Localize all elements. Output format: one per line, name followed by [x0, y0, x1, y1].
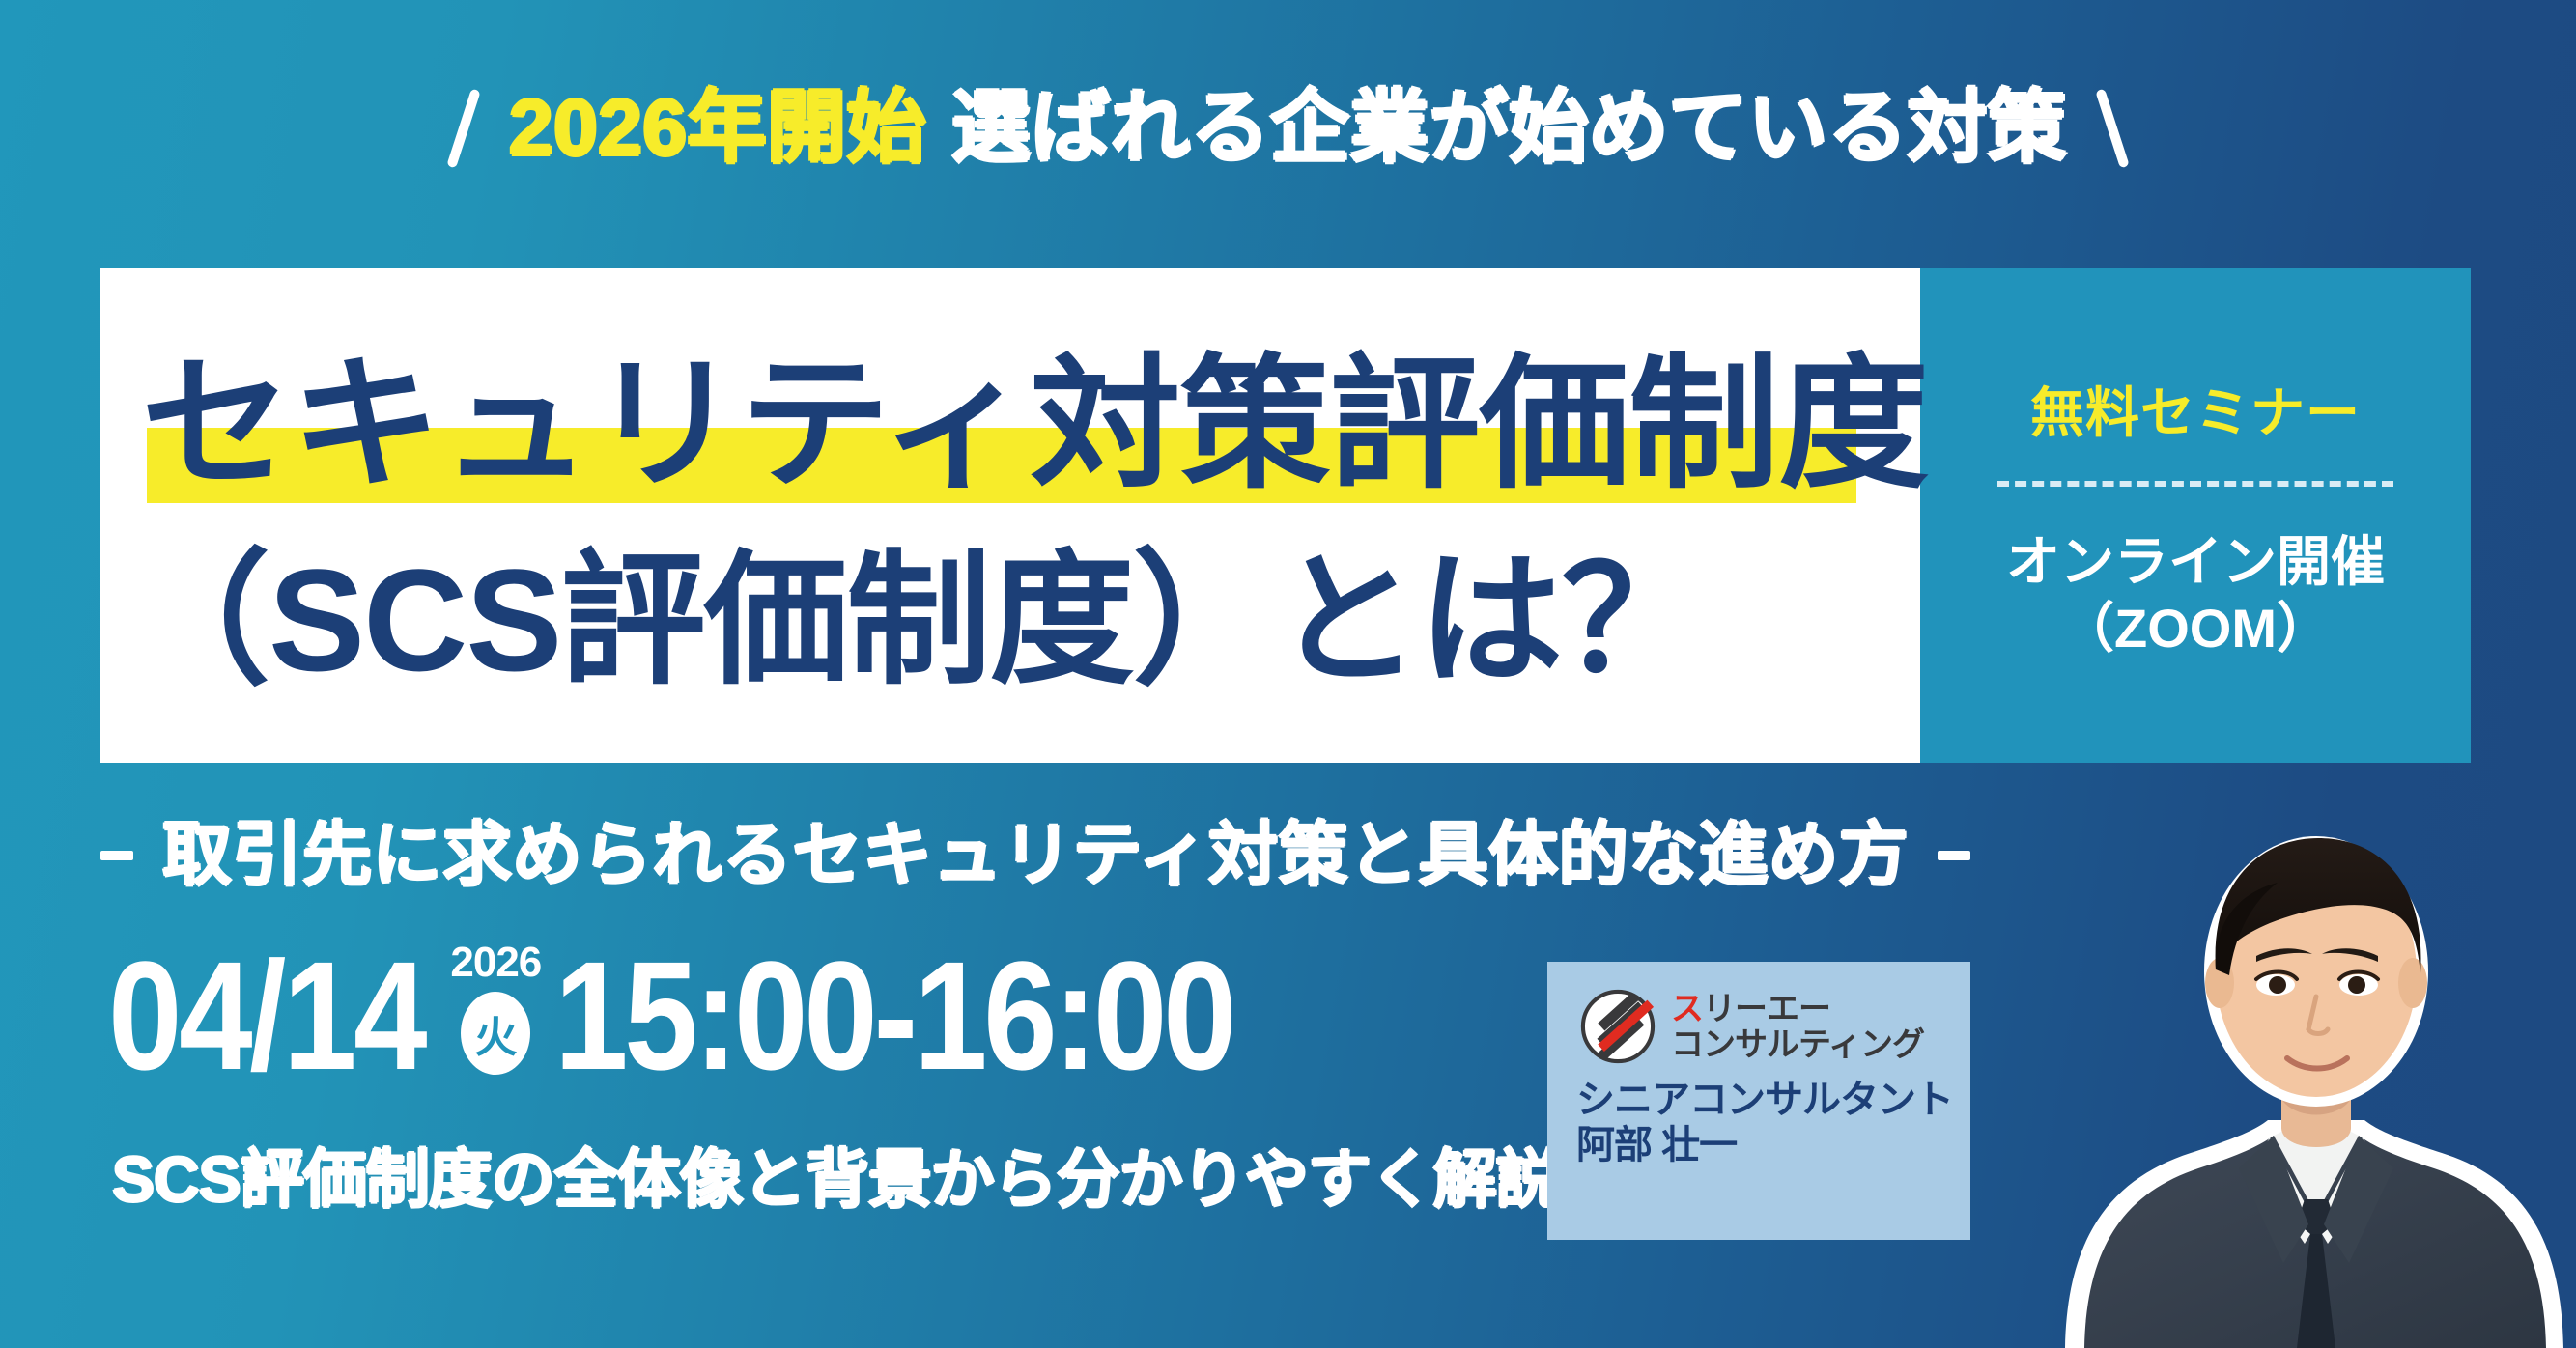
speaker-role: シニアコンサルタント — [1547, 1078, 1953, 1123]
eyebrow-headline: 2026年開始選ばれる企業が始めている対策 — [509, 89, 2067, 168]
dash-right-icon — [1938, 851, 1970, 860]
event-date-meta: 2026 火 — [450, 941, 541, 1075]
online-format-line2: （ZOOM） — [2006, 596, 2385, 661]
eyebrow-bar: 2026年開始選ばれる企業が始めている対策 — [0, 75, 2576, 182]
logo-wordmark-rest: リーエー — [1703, 991, 1830, 1027]
three-a-logo-icon — [1578, 987, 1657, 1066]
event-date: 04/14 — [108, 949, 424, 1082]
page-title-line1: セキュリティ対策評価制度 — [141, 351, 1928, 496]
eyebrow-rest-label: 選ばれる企業が始めている対策 — [951, 84, 2067, 172]
event-caption: SCS評価制度の全体像と背景から分かりやすく解説します — [112, 1147, 1747, 1211]
free-seminar-badge: 無料セミナー — [2030, 370, 2361, 448]
title-line2-wrapper: （SCS評価制度）とは？ — [100, 528, 1920, 712]
speaker-card: スリーエー コンサルティング シニアコンサルタント 阿部 壮一 — [1547, 962, 1970, 1240]
panel-divider — [1997, 481, 2393, 487]
company-logo: スリーエー コンサルティング — [1547, 987, 1924, 1066]
title-line1-wrapper: セキュリティ対策評価制度 — [100, 320, 1920, 528]
online-format-label: オンライン開催 （ZOOM） — [2006, 529, 2385, 661]
logo-wordmark-line2: コンサルティング — [1671, 1028, 1924, 1061]
title-inner: セキュリティ対策評価制度 （SCS評価制度）とは？ — [100, 268, 1920, 763]
event-year: 2026 — [450, 941, 541, 984]
sub-headline: 取引先に求められるセキュリティ対策と具体的な進め方 — [100, 801, 2090, 910]
slash-right-icon — [2095, 89, 2129, 169]
seminar-banner: 2026年開始選ばれる企業が始めている対策 セキュリティ対策評価制度 （SCS評… — [0, 0, 2576, 1348]
sub-headline-text: 取引先に求められるセキュリティ対策と具体的な進め方 — [162, 821, 1909, 890]
seminar-info-panel: 無料セミナー オンライン開催 （ZOOM） — [1920, 268, 2471, 763]
event-time: 15:00-16:00 — [554, 949, 1232, 1082]
event-day-of-week-badge: 火 — [461, 992, 530, 1075]
online-format-line1: オンライン開催 — [2006, 529, 2385, 595]
page-title-line2: （SCS評価制度）とは？ — [126, 548, 1704, 692]
logo-wordmark-line1: スリーエー — [1671, 993, 1924, 1025]
speaker-name: 阿部 壮一 — [1547, 1123, 1737, 1168]
slash-left-icon — [446, 89, 480, 169]
title-card: セキュリティ対策評価制度 （SCS評価制度）とは？ — [100, 268, 1920, 763]
company-logo-wordmark: スリーエー コンサルティング — [1671, 993, 1924, 1061]
event-datetime: 04/14 2026 火 15:00-16:00 — [108, 941, 1344, 1082]
dash-left-icon — [100, 851, 133, 860]
logo-wordmark-accent: ス — [1671, 991, 1703, 1027]
eyebrow-year-label: 2026年開始 — [509, 84, 926, 172]
speaker-portrait — [2046, 809, 2567, 1348]
